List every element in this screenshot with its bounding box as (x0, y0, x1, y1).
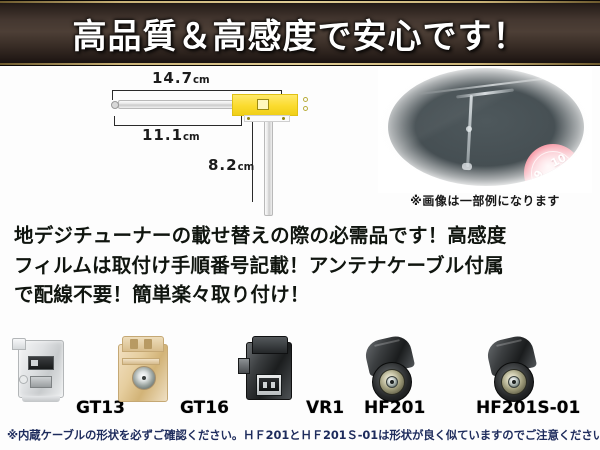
windshield-photo: 9 10 (388, 68, 584, 186)
installation-photo-block: 9 10 ※画像は一部例になります (378, 68, 592, 213)
product-banner-page: 高品質＆高感度で安心です！ 14.7cm 11.1cm 8.2cm (0, 0, 600, 450)
gt13-tab (12, 338, 26, 350)
antenna-pad-chip-icon (257, 99, 269, 110)
antenna-film-terminal (462, 163, 472, 171)
product-description: 地デジチューナーの載せ替えの際の必需品です！高感度 フィルムは取付け手順番号記載… (14, 221, 590, 310)
banner-title: 高品質＆高感度で安心です！ (0, 0, 600, 66)
gt16-lip (122, 358, 160, 365)
dimension-label-total-width: 14.7cm (152, 69, 210, 87)
dimension-value-total-width: 14.7 (152, 69, 193, 87)
antenna-pad-tick (247, 117, 250, 120)
connector-label-hf201s-01: HF201S-01 (476, 398, 580, 418)
connector-label-vr1: VR1 (306, 398, 344, 418)
antenna-pad-hole (303, 106, 308, 111)
photo-caption: ※画像は一部例になります (378, 192, 592, 209)
vr1-pin (271, 382, 275, 388)
dimension-label-height: 8.2cm (208, 156, 254, 174)
connector-type-row: GT13 GT16 VR (0, 330, 600, 420)
header-banner: 高品質＆高感度で安心です！ (0, 0, 600, 66)
dimension-unit-total-width: cm (193, 75, 210, 86)
gt13-secondary-port (30, 376, 52, 388)
vr1-port-cavity (259, 378, 279, 391)
dimension-value-height: 8.2 (208, 156, 238, 174)
gt13-pin (31, 360, 38, 366)
antenna-film-node (466, 126, 472, 132)
connector-label-gt16: GT16 (180, 398, 229, 418)
vr1-notch (238, 358, 250, 374)
antenna-pad-hole (303, 97, 308, 102)
gt16-center-pin (142, 376, 146, 380)
antenna-pad-tick (282, 117, 285, 120)
hf201s-01-connector-icon (482, 336, 546, 406)
antenna-diagram: 14.7cm 11.1cm 8.2cm (0, 66, 370, 216)
vr1-pin (263, 382, 267, 388)
footnote-caution: ※内蔵ケーブルの形状を必ずご確認ください。ＨＦ201とＨＦ201Ｓ-01は形状が… (7, 427, 597, 443)
vr1-connector-icon (238, 336, 300, 406)
connector-label-hf201: HF201 (364, 398, 425, 418)
dimension-bracket-inner-width (114, 116, 242, 126)
description-line-1: 地デジチューナーの載せ替えの際の必需品です！高感度 (14, 221, 590, 251)
gt13-knob (19, 375, 28, 384)
gt16-connector-icon (110, 336, 174, 406)
dimension-unit-inner-width: cm (183, 132, 200, 143)
vr1-clip (252, 336, 288, 354)
gt13-foot (22, 396, 60, 402)
hf201-connector-icon (360, 336, 424, 406)
hf201-center-core (390, 380, 394, 384)
gt13-connector-icon (12, 336, 70, 402)
antenna-left-terminal-dot (111, 101, 119, 109)
antenna-vertical-element (264, 110, 273, 216)
dimension-unit-height: cm (238, 162, 255, 173)
description-line-2: フィルムは取付け手順番号記載！アンテナケーブル付属 (14, 251, 590, 281)
dimension-value-inner-width: 11.1 (142, 126, 183, 144)
dimension-label-inner-width: 11.1cm (142, 126, 200, 144)
description-line-3: で配線不要！簡単楽々取り付け！ (14, 280, 590, 310)
hf201s-01-center-core (512, 380, 516, 384)
gt16-latch-arm (122, 336, 164, 352)
gt16-slot (130, 339, 138, 349)
gt16-slot (144, 339, 152, 349)
